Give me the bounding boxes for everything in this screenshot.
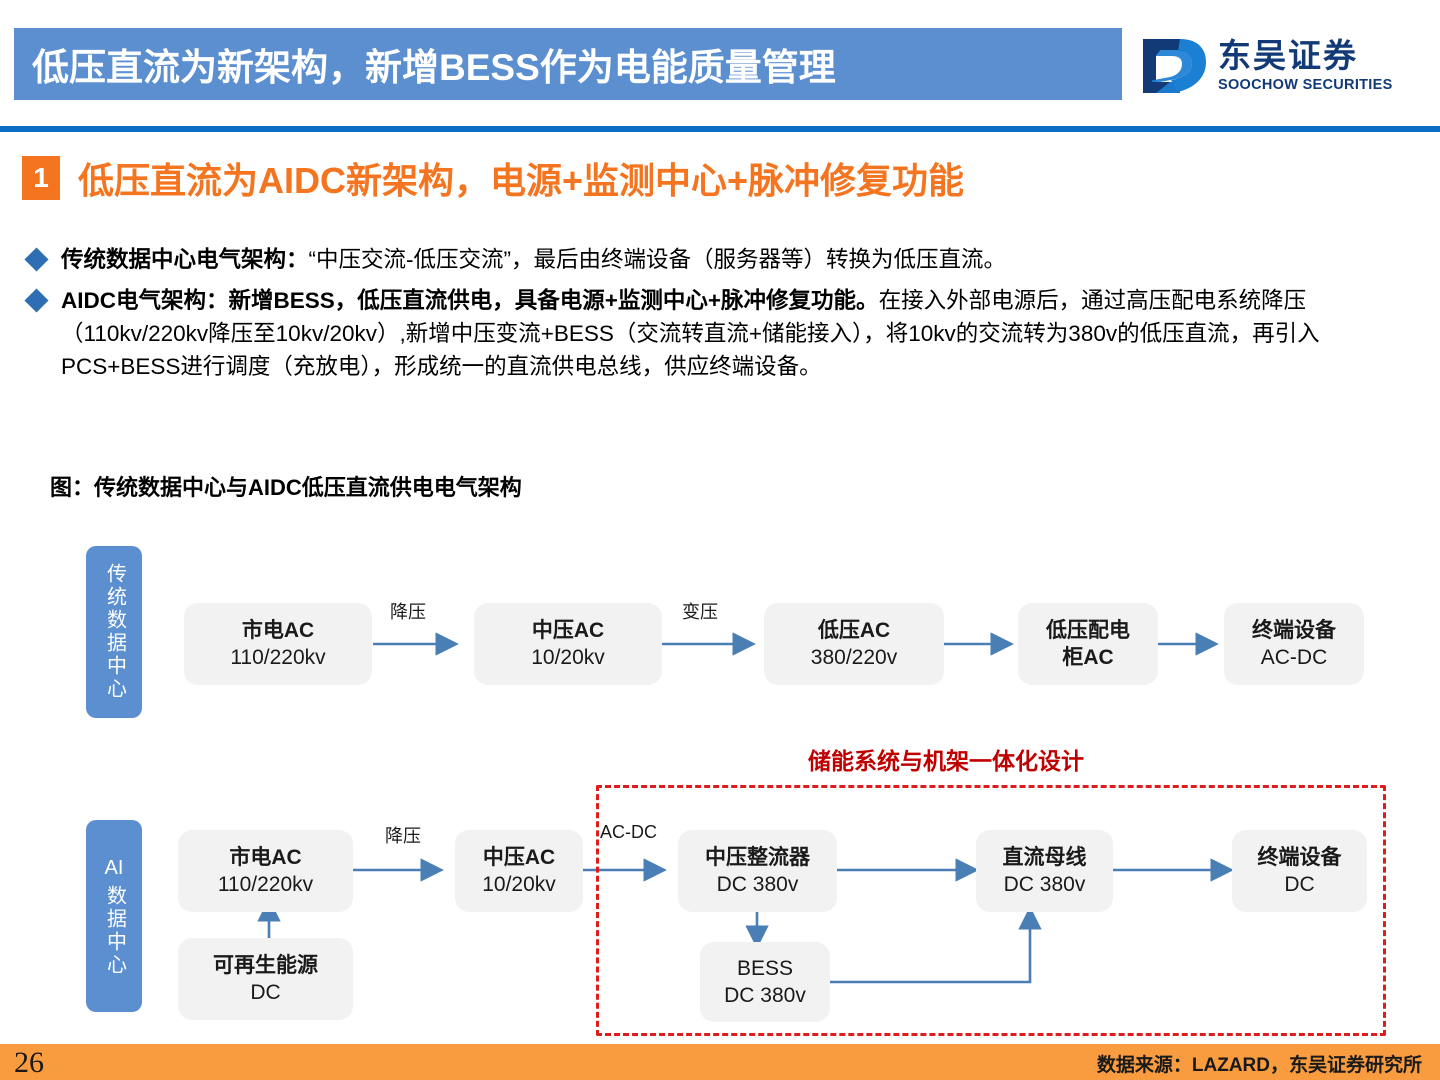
bullet-text: 传统数据中心电气架构：“中压交流-低压交流”，最后由终端设备（服务器等）转换为低…: [61, 243, 1418, 276]
section-title: 低压直流为AIDC新架构，电源+监测中心+脉冲修复功能: [78, 152, 964, 204]
node-line1: 市电AC: [242, 617, 314, 644]
node-r2-renewable: 可再生能源 DC: [178, 938, 353, 1020]
figure-title: 图：传统数据中心与AIDC低压直流供电电气架构: [50, 470, 522, 502]
node-r1-terminal: 终端设备 AC-DC: [1224, 603, 1364, 685]
brand-name-cn: 东吴证券: [1218, 39, 1393, 72]
list-item: AIDC电气架构：新增BESS，低压直流供电，具备电源+监测中心+脉冲修复功能。…: [28, 284, 1418, 383]
node-line2: DC 380v: [724, 982, 806, 1009]
node-line2: 柜AC: [1062, 644, 1113, 671]
node-r1-mv-ac: 中压AC 10/20kv: [474, 603, 662, 685]
row-label-traditional-dc-text: 传统数据中心: [102, 563, 127, 701]
bullet-list: 传统数据中心电气架构：“中压交流-低压交流”，最后由终端设备（服务器等）转换为低…: [28, 243, 1418, 391]
diamond-bullet-icon: [24, 247, 48, 271]
node-line1: 低压配电: [1046, 617, 1130, 644]
node-line2: 380/220v: [811, 644, 897, 671]
node-line2: DC: [1284, 871, 1314, 898]
node-line1: 中压AC: [532, 617, 604, 644]
node-line1: 中压AC: [483, 844, 555, 871]
header-title-bar: 低压直流为新架构，新增BESS作为电能质量管理: [14, 28, 1122, 100]
source-note: 数据来源：LAZARD，东吴证券研究所: [1097, 1050, 1422, 1077]
node-line1: 可再生能源: [213, 952, 318, 979]
node-line1: 终端设备: [1258, 844, 1342, 871]
node-r2-rectifier: 中压整流器 DC 380v: [678, 830, 837, 912]
dashed-region-caption: 储能系统与机架一体化设计: [808, 742, 1084, 776]
node-line1: BESS: [737, 955, 793, 982]
node-line1: 直流母线: [1003, 844, 1087, 871]
node-r2-utility-ac: 市电AC 110/220kv: [178, 830, 353, 912]
bullet-lead: AIDC电气架构：新增BESS，低压直流供电，具备电源+监测中心+脉冲修复功能。: [61, 288, 879, 313]
bullet-rest: “中压交流-低压交流”，最后由终端设备（服务器等）转换为低压直流。: [309, 247, 1006, 272]
section-heading: 1 低压直流为AIDC新架构，电源+监测中心+脉冲修复功能: [22, 152, 964, 204]
bullet-lead: 传统数据中心电气架构：: [61, 247, 309, 272]
node-line2: 110/220kv: [218, 871, 313, 898]
soochow-logo-mark-icon: [1140, 36, 1208, 96]
node-line1: 终端设备: [1252, 617, 1336, 644]
page-number: 26: [14, 1046, 44, 1080]
node-r1-utility-ac: 市电AC 110/220kv: [184, 603, 372, 685]
node-line2: DC: [250, 979, 280, 1006]
node-line1: 市电AC: [229, 844, 301, 871]
node-r1-lv-ac: 低压AC 380/220v: [764, 603, 944, 685]
node-line2: DC 380v: [1004, 871, 1086, 898]
architecture-diagram: 传统数据中心 AI 数据中心 储能系统与机架一体化设计 市电AC 110/220…: [0, 520, 1440, 1040]
node-line2: 10/20kv: [531, 644, 605, 671]
node-line2: AC-DC: [1261, 644, 1328, 671]
node-r2-terminal: 终端设备 DC: [1232, 830, 1367, 912]
diamond-bullet-icon: [24, 288, 48, 312]
bullet-text: AIDC电气架构：新增BESS，低压直流供电，具备电源+监测中心+脉冲修复功能。…: [61, 284, 1418, 383]
node-r2-dc-bus: 直流母线 DC 380v: [976, 830, 1113, 912]
node-line1: 中压整流器: [705, 844, 810, 871]
brand-name-en: SOOCHOW SECURITIES: [1218, 78, 1393, 93]
node-line2: 110/220kv: [230, 644, 325, 671]
section-number-badge: 1: [22, 156, 60, 200]
node-r2-bess: BESS DC 380v: [700, 942, 830, 1022]
row-label-ai-dc-top: AI: [105, 856, 124, 881]
page-title: 低压直流为新架构，新增BESS作为电能质量管理: [14, 37, 836, 91]
node-line1: 低压AC: [818, 617, 890, 644]
list-item: 传统数据中心电气架构：“中压交流-低压交流”，最后由终端设备（服务器等）转换为低…: [28, 243, 1418, 276]
page-footer: 26 数据来源：LAZARD，东吴证券研究所: [0, 1044, 1440, 1080]
brand-logo: 东吴证券 SOOCHOW SECURITIES: [1140, 36, 1393, 96]
edge-label-r2-step-down: 降压: [385, 822, 421, 848]
edge-label-r2-ac-dc: AC-DC: [600, 822, 657, 843]
edge-label-r1-transform: 变压: [682, 598, 718, 624]
row-label-ai-dc-rest: 数据中心: [102, 885, 127, 977]
brand-logo-text: 东吴证券 SOOCHOW SECURITIES: [1218, 39, 1393, 93]
header-divider: [0, 126, 1440, 132]
node-line2: 10/20kv: [482, 871, 556, 898]
row-label-traditional-dc: 传统数据中心: [86, 546, 142, 718]
node-r2-mv-ac: 中压AC 10/20kv: [455, 830, 583, 912]
edge-label-r1-step-down: 降压: [390, 598, 426, 624]
node-r1-lv-panel: 低压配电 柜AC: [1018, 603, 1158, 685]
node-line2: DC 380v: [717, 871, 799, 898]
page-header: 低压直流为新架构，新增BESS作为电能质量管理 东吴证券 SOOCHOW SEC…: [0, 0, 1440, 120]
row-label-ai-dc: AI 数据中心: [86, 820, 142, 1012]
